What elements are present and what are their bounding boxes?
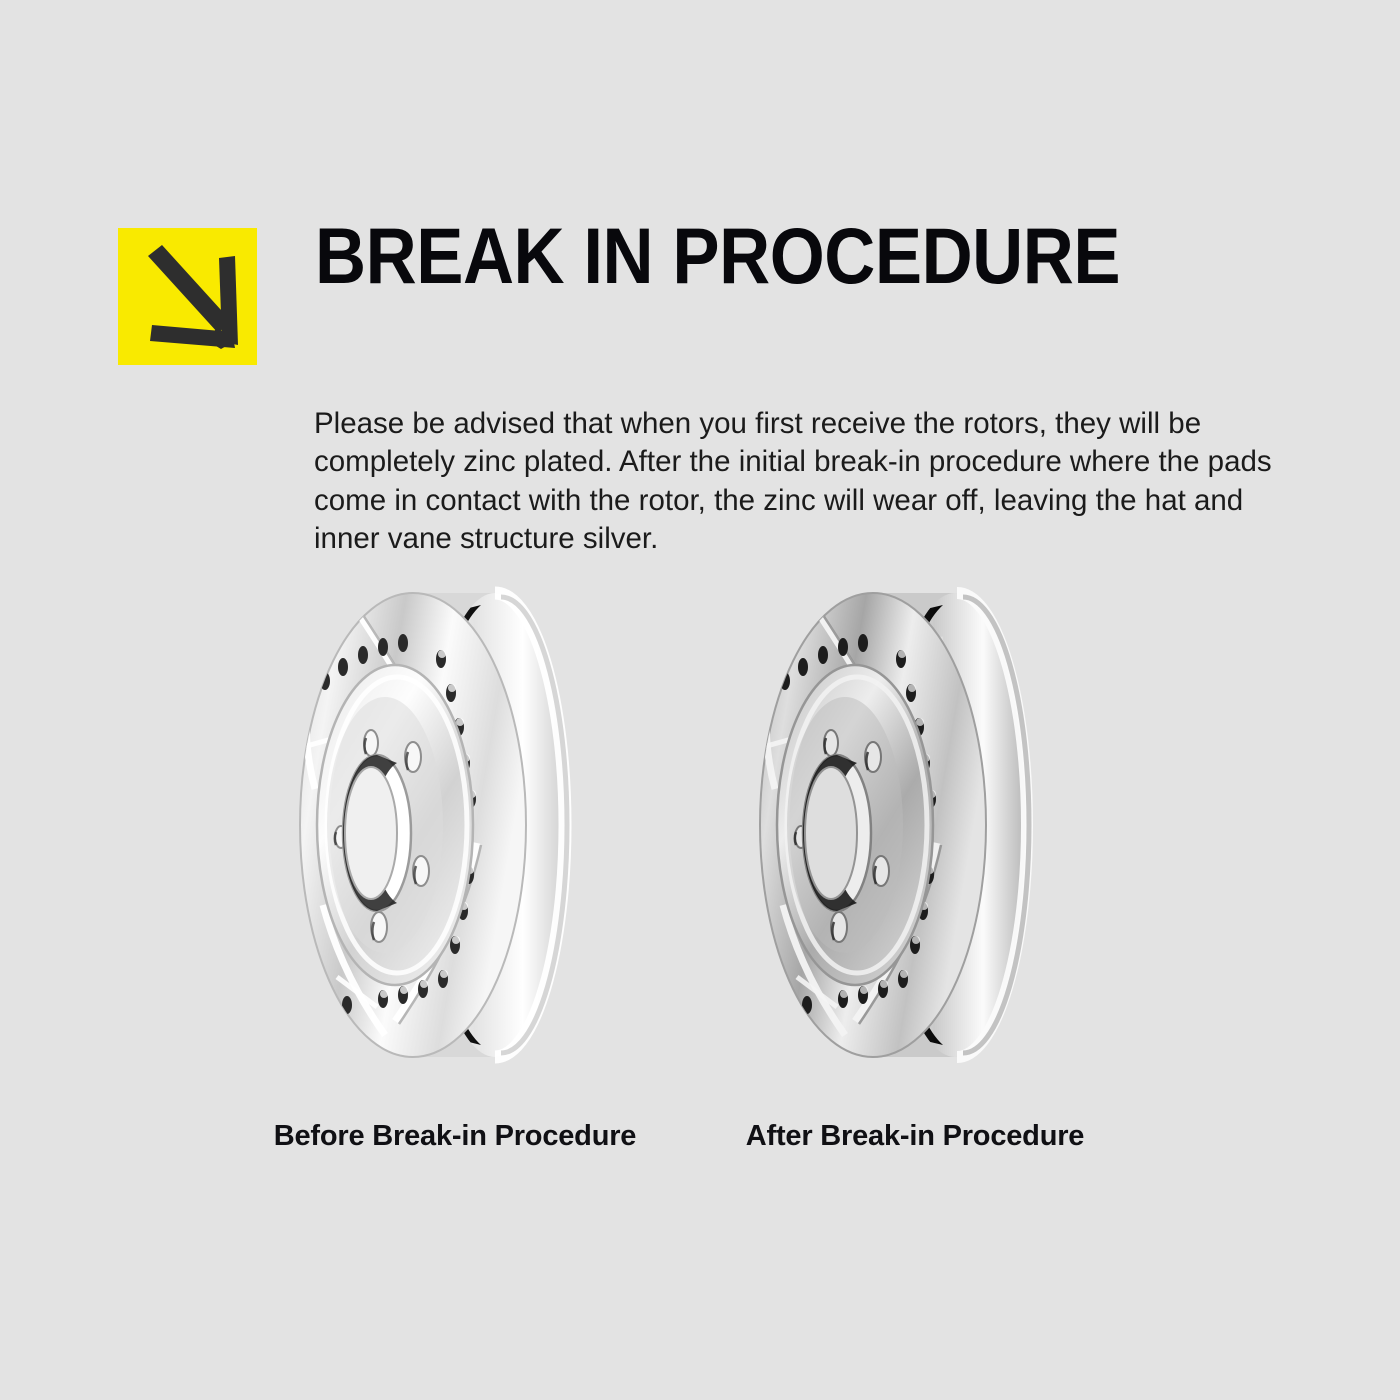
figure-caption-after: After Break-in Procedure	[705, 1120, 1125, 1153]
brake-rotor-illustration	[705, 575, 1125, 1075]
page-title: BREAK IN PROCEDURE	[315, 216, 1120, 295]
figure-before: Before Break-in Procedure	[245, 575, 665, 1155]
arrow-badge	[118, 228, 257, 365]
intro-paragraph: Please be advised that when you first re…	[314, 405, 1294, 559]
header: BREAK IN PROCEDURE	[118, 228, 1288, 368]
figure-row: Before Break-in Procedure	[0, 575, 1400, 1155]
figure-after: After Break-in Procedure	[705, 575, 1125, 1155]
rotor-image-after	[705, 575, 1125, 1075]
arrow-down-right-icon	[118, 228, 257, 365]
rotor-image-before	[245, 575, 665, 1075]
brake-rotor-illustration	[245, 575, 665, 1075]
figure-caption-before: Before Break-in Procedure	[245, 1120, 665, 1153]
